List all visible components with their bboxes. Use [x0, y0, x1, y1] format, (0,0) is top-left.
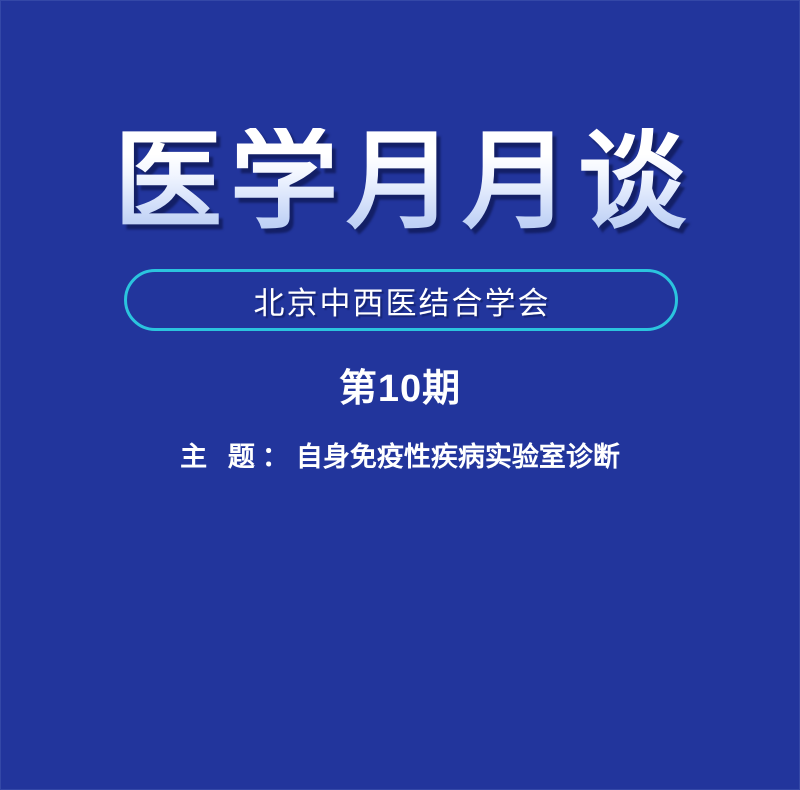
organization-name: 北京中西医结合学会: [252, 278, 551, 323]
topic-value: 自身免疫性疾病实验室诊断: [296, 442, 620, 472]
issue-number: 第10期: [0, 369, 800, 411]
title-block: 医学月月谈: [0, 128, 800, 238]
topic-line: 主 题：自身免疫性疾病实验室诊断: [0, 441, 800, 473]
poster-canvas: 医学月月谈 北京中西医结合学会 第10期 主 题：自身免疫性疾病实验室诊断: [0, 0, 800, 790]
page-title: 医学月月谈: [106, 128, 694, 238]
organization-pill: 北京中西医结合学会: [124, 269, 678, 331]
empty-lower-area: [0, 500, 800, 790]
topic-label: 主 题：: [180, 442, 296, 472]
